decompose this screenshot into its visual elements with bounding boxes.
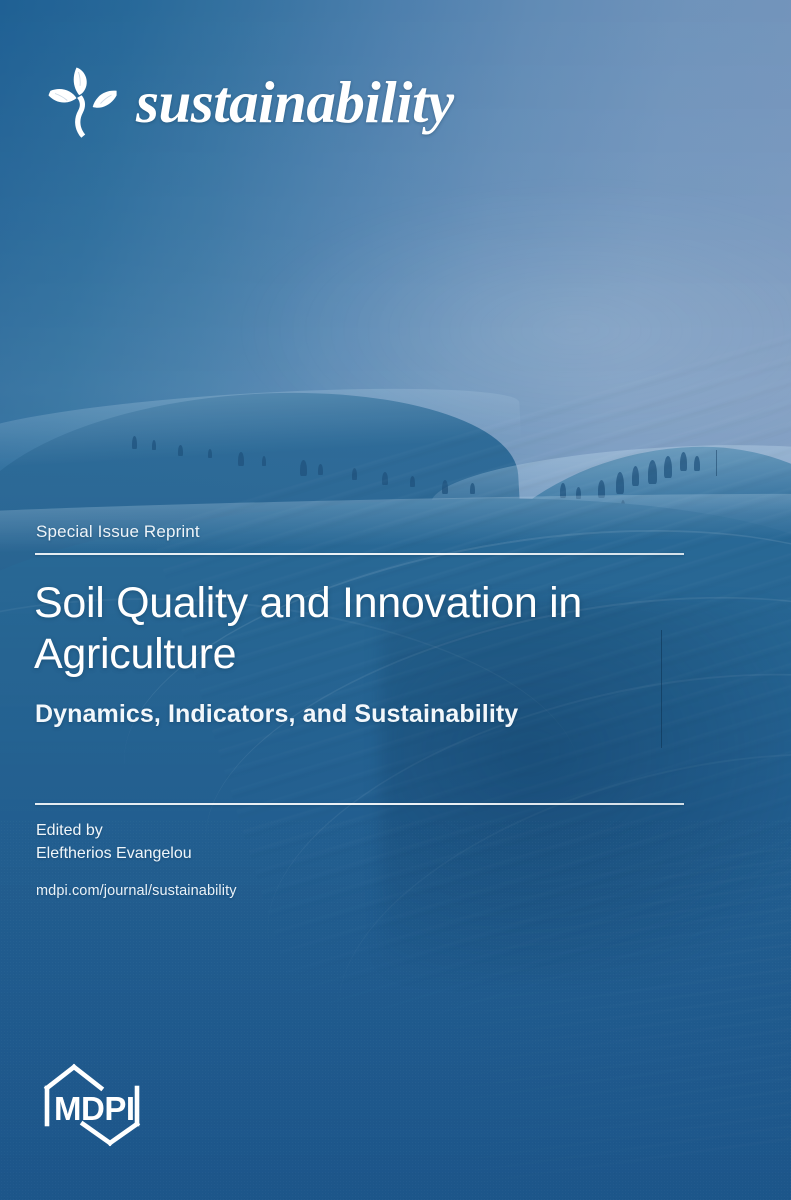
page-title: Soil Quality and Innovation in Agricultu… (34, 578, 694, 679)
page-subtitle: Dynamics, Indicators, and Sustainability (35, 699, 695, 730)
mdpi-wordmark: MDPI (54, 1090, 135, 1127)
journal-wordmark: sustainability (136, 73, 454, 132)
journal-masthead: sustainability (46, 62, 454, 142)
editor-names: Eleftherios Evangelou (36, 843, 192, 866)
mdpi-hexagon-logo: MDPI (41, 1062, 154, 1148)
divider-rule-top (35, 553, 684, 555)
seedling-leaf-icon (46, 62, 124, 142)
divider-rule-bottom (35, 803, 684, 805)
book-cover: sustainability Special Issue Reprint Soi… (0, 0, 791, 1200)
editors-block: Edited by Eleftherios Evangelou (36, 820, 192, 865)
edited-by-label: Edited by (36, 820, 192, 843)
journal-url[interactable]: mdpi.com/journal/sustainability (36, 883, 237, 899)
special-issue-reprint-label: Special Issue Reprint (36, 522, 200, 542)
